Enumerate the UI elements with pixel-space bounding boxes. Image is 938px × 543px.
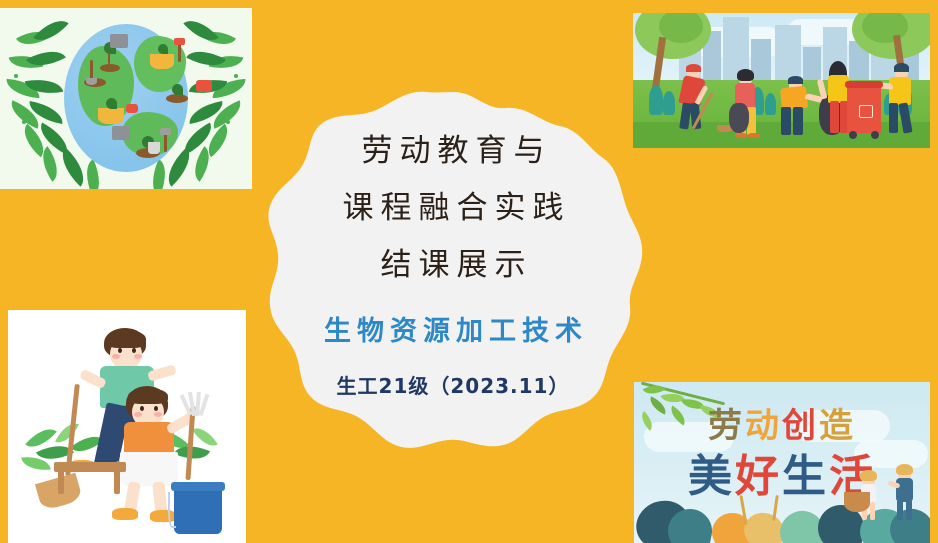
title-text-block: 劳动教育与 课程融合实践 结课展示 生物资源加工技术 生工21级（2023.11…	[258, 88, 648, 454]
course-subtitle: 生物资源加工技术	[318, 309, 588, 348]
title-line-2: 课程融合实践	[336, 193, 571, 224]
earth-gardening-illustration	[0, 8, 252, 189]
blue-bucket	[174, 486, 222, 534]
labor-poster: 劳动创造 美好生活	[634, 382, 930, 543]
title-line-3: 结课展示	[374, 250, 533, 281]
class-date-line: 生工21级（2023.11）	[337, 370, 570, 399]
presentation-title-slide: 劳动创造 美好生活	[0, 0, 938, 543]
park-cleanup-illustration	[633, 13, 930, 148]
title-line-1: 劳动教育与	[355, 136, 552, 167]
children-sweeping-illustration	[8, 310, 246, 543]
